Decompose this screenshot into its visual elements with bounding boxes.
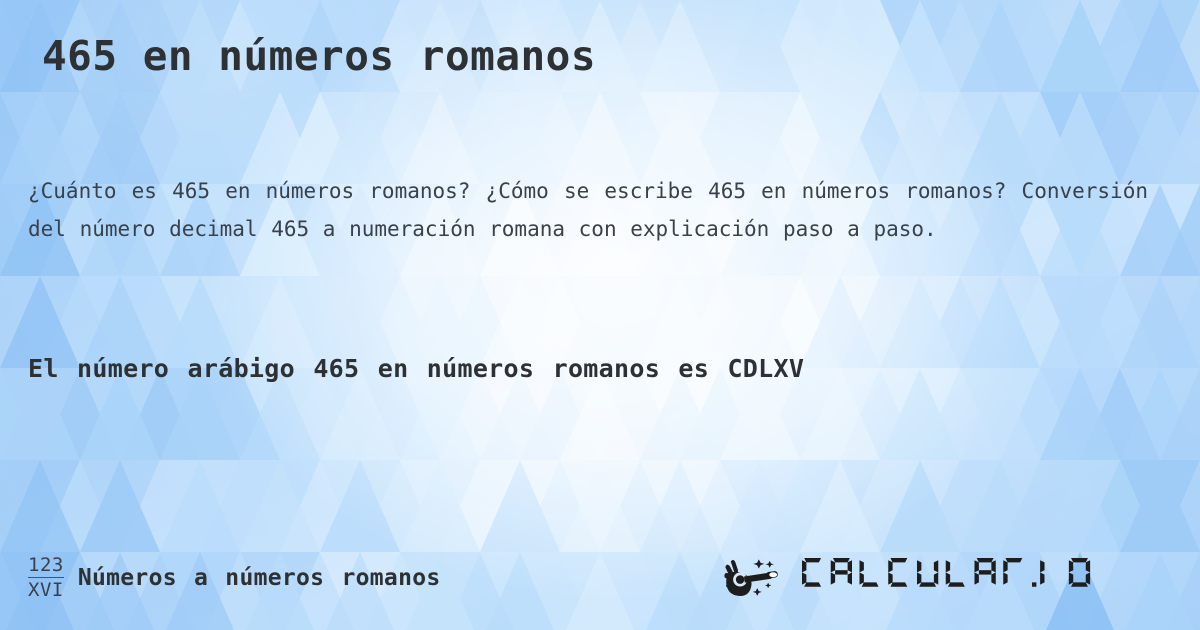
intro-paragraph: ¿Cuánto es 465 en números romanos? ¿Cómo… [28, 172, 1148, 248]
site-logo-arabic: 123 [28, 556, 64, 578]
footer: 123 XVI Números a números romanos [0, 550, 1200, 606]
calculatio-wordmark [802, 558, 1172, 598]
site-logo-123-xvi: 123 XVI [28, 556, 64, 600]
site-logo-roman: XVI [28, 578, 64, 600]
page-title: 465 en números romanos [42, 32, 596, 80]
site-title: Números a números romanos [78, 565, 441, 591]
hand-holding-wand-icon [723, 557, 796, 599]
answer-statement: El número arábigo 465 en números romanos… [28, 348, 1088, 390]
footer-brand-left: 123 XVI Números a números romanos [28, 556, 441, 600]
calculatio-logo [723, 557, 1172, 599]
og-image-card: 465 en números romanos ¿Cuánto es 465 en… [0, 0, 1200, 630]
